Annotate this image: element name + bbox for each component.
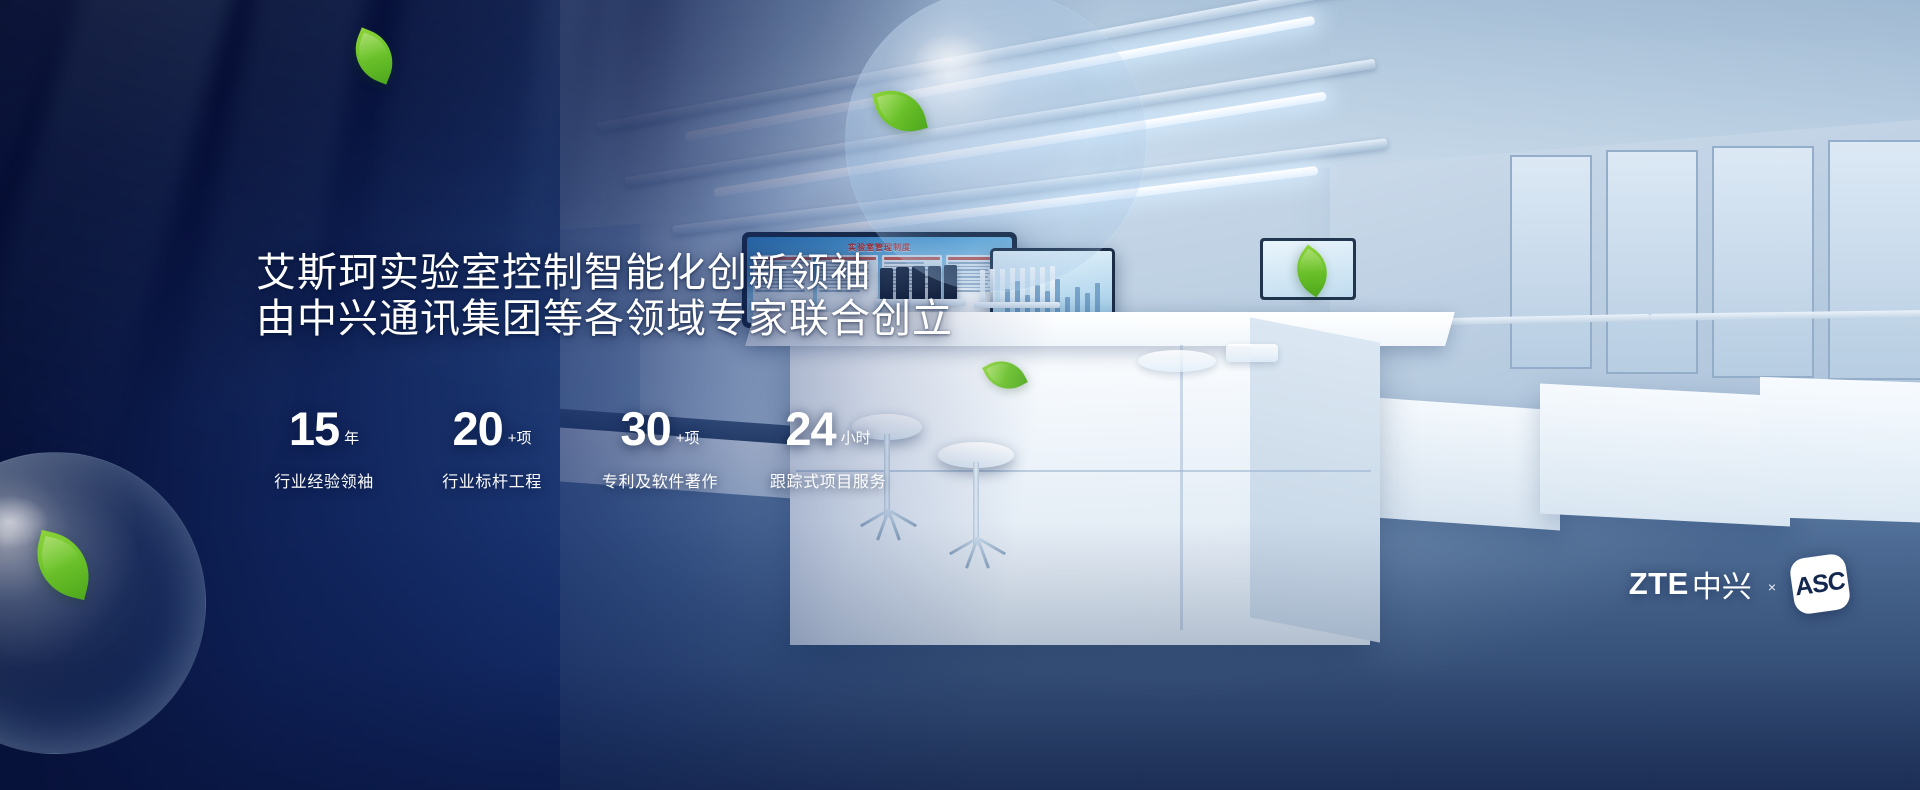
stat-label: 跟踪式项目服务 (744, 468, 912, 492)
stat-item: 24 小时 跟踪式项目服务 (744, 405, 912, 492)
hero-banner: 实验室管理制度 (0, 0, 1920, 790)
zte-logo: ZTE 中兴 (1629, 562, 1752, 606)
stat-label: 行业标杆工程 (408, 468, 576, 492)
stat-label: 行业经验领袖 (240, 468, 408, 492)
headline-line-2: 由中兴通讯集团等各领域专家联合创立 (256, 296, 953, 342)
asc-logo-text: ASC (1794, 566, 1845, 602)
banner-content: 艾斯珂实验室控制智能化创新领袖 由中兴通讯集团等各领域专家联合创立 15 年 行… (0, 0, 1920, 790)
stat-unit: 小时 (841, 427, 871, 448)
stat-number: 20 (452, 405, 502, 452)
stat-number: 24 (785, 405, 835, 452)
stat-label: 专利及软件著作 (576, 468, 744, 492)
headline-line-1: 艾斯珂实验室控制智能化创新领袖 (256, 250, 953, 296)
stat-unit: +项 (676, 427, 700, 448)
asc-logo-badge: ASC (1788, 552, 1851, 615)
stat-item: 15 年 行业经验领袖 (240, 405, 408, 492)
stat-number: 30 (620, 405, 670, 452)
stat-item: 20 +项 行业标杆工程 (408, 405, 576, 492)
stats-row: 15 年 行业经验领袖 20 +项 行业标杆工程 30 +项 专利及软件著作 (240, 405, 912, 492)
logo-separator-icon: × (1768, 579, 1776, 595)
headline: 艾斯珂实验室控制智能化创新领袖 由中兴通讯集团等各领域专家联合创立 (256, 250, 953, 343)
logo-lockup: ZTE 中兴 × ASC (1629, 556, 1848, 612)
stat-item: 30 +项 专利及软件著作 (576, 405, 744, 492)
zte-logo-latin: ZTE (1629, 566, 1689, 602)
stat-number: 15 (289, 405, 339, 452)
stat-unit: 年 (344, 427, 359, 448)
stat-unit: +项 (508, 427, 532, 448)
zte-logo-chinese: 中兴 (1692, 562, 1752, 606)
